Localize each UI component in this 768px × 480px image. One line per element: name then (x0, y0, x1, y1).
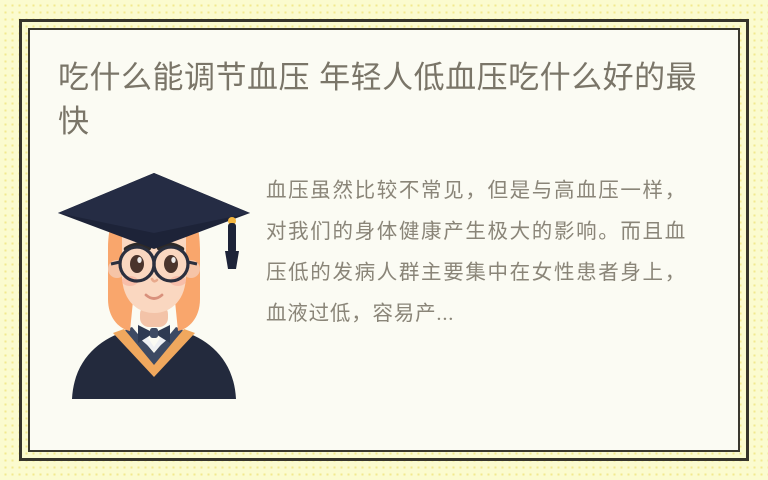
page-title: 吃什么能调节血压 年轻人低血压吃什么好的最快 (58, 56, 710, 144)
eye-highlight-left (137, 257, 141, 263)
bowtie-knot (150, 328, 158, 338)
mortarboard-top (58, 173, 250, 233)
glasses-temple-right (188, 262, 197, 264)
eye-right (164, 255, 178, 273)
article-card: 吃什么能调节血压 年轻人低血压吃什么好的最快 (28, 28, 740, 452)
card-content: 吃什么能调节血压 年轻人低血压吃什么好的最快 (30, 30, 738, 450)
tassel-fringe (225, 251, 239, 269)
eye-highlight-right (171, 257, 175, 263)
page-background: 吃什么能调节血压 年轻人低血压吃什么好的最快 (0, 0, 768, 480)
tassel-cord (228, 223, 236, 253)
avatar (54, 171, 254, 399)
article-excerpt: 血压虽然比较不常见，但是与高血压一样，对我们的身体健康产生极大的影响。而且血压低… (266, 171, 686, 335)
glasses-nose-bridge (153, 263, 155, 266)
article-body: 血压虽然比较不常见，但是与高血压一样，对我们的身体健康产生极大的影响。而且血压低… (58, 169, 710, 399)
glasses-temple-left (111, 262, 120, 264)
eye-left (130, 255, 144, 273)
